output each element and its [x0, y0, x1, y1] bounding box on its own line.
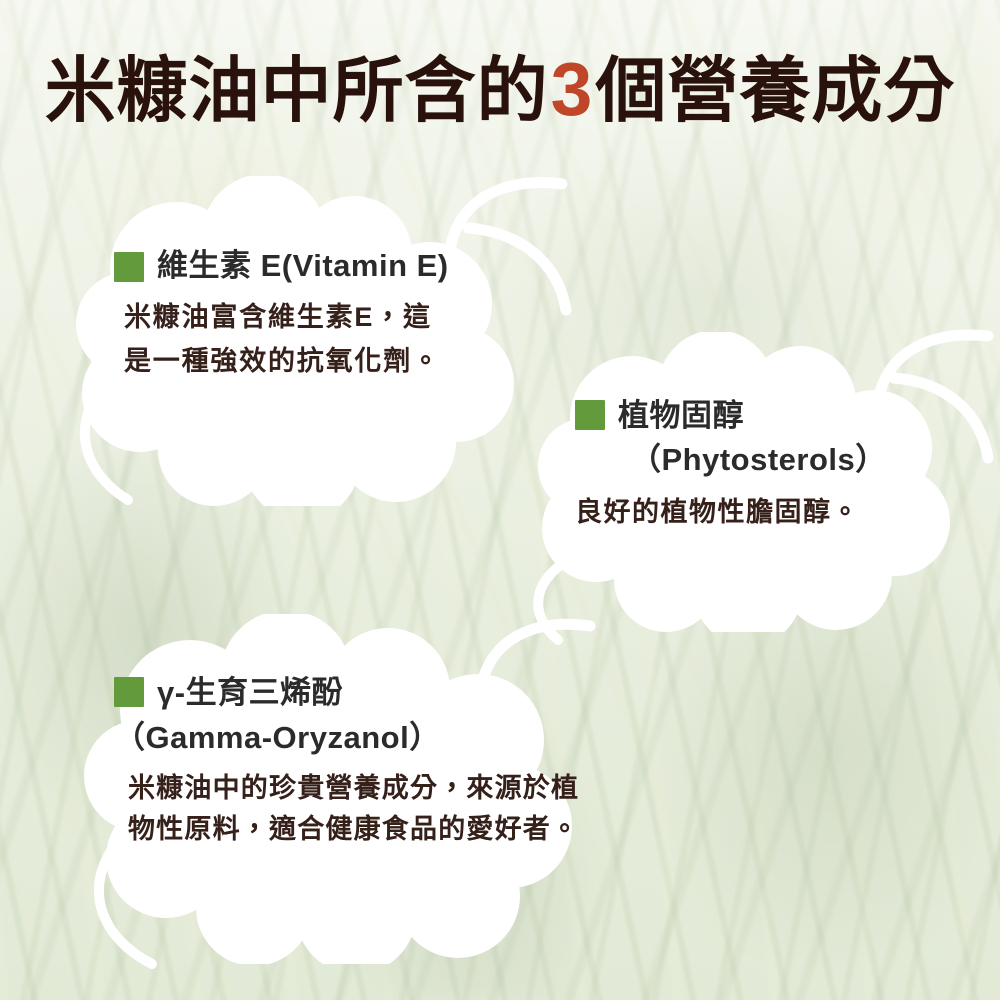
bubble-heading-line-2: （Gamma-Oryzanol） [114, 715, 441, 760]
page-title: 米糠油中所含的3個營養成分 [0, 46, 1000, 135]
green-square-bullet-icon [114, 252, 144, 282]
bubble-heading-text: γ-生育三烯酚 （Gamma-Oryzanol） [157, 670, 441, 760]
bubble-content-phytosterols: 植物固醇 （Phytosterols） 良好的植物性膽固醇。 [575, 394, 975, 532]
bubble-body-gamma-oryzanol: 米糠油中的珍貴營養成分，來源於植物性原料，適合健康食品的愛好者。 [114, 768, 584, 850]
bubble-heading-vitamin-e: 維生素 E(Vitamin E) [114, 246, 514, 286]
bubble-body-vitamin-e: 米糠油富含維生素E，這是一種強效的抗氧化劑。 [114, 295, 454, 383]
green-square-bullet-icon [575, 400, 605, 430]
poster-canvas: 米糠油中所含的3個營養成分 [0, 0, 1000, 1000]
bubble-heading-gamma-oryzanol: γ-生育三烯酚 （Gamma-Oryzanol） [114, 670, 584, 760]
bubble-heading-line-1: γ-生育三烯酚 [157, 675, 343, 710]
info-bubble-vitamin-e: 維生素 E(Vitamin E) 米糠油富含維生素E，這是一種強效的抗氧化劑。 [58, 176, 528, 506]
green-square-bullet-icon [114, 677, 144, 707]
bubble-content-gamma-oryzanol: γ-生育三烯酚 （Gamma-Oryzanol） 米糠油中的珍貴營養成分，來源於… [114, 670, 584, 850]
page-title-part1: 米糠油中所含的 [45, 52, 549, 131]
bubble-body-phytosterols: 良好的植物性膽固醇。 [575, 492, 975, 532]
info-bubble-gamma-oryzanol: γ-生育三烯酚 （Gamma-Oryzanol） 米糠油中的珍貴營養成分，來源於… [62, 614, 602, 964]
page-title-part2: 個營養成分 [595, 52, 955, 131]
info-bubble-phytosterols: 植物固醇 （Phytosterols） 良好的植物性膽固醇。 [520, 332, 970, 632]
page-title-number: 3 [549, 47, 596, 131]
bubble-content-vitamin-e: 維生素 E(Vitamin E) 米糠油富含維生素E，這是一種強效的抗氧化劑。 [114, 246, 514, 383]
bubble-heading-phytosterols: 植物固醇 （Phytosterols） [575, 394, 975, 482]
bubble-heading-text: 維生素 E(Vitamin E) [157, 246, 449, 286]
bubble-heading-line-1: 植物固醇 [618, 398, 744, 433]
bubble-heading-text: 植物固醇 （Phytosterols） [618, 394, 887, 482]
bubble-heading-line-2: （Phytosterols） [618, 438, 887, 482]
